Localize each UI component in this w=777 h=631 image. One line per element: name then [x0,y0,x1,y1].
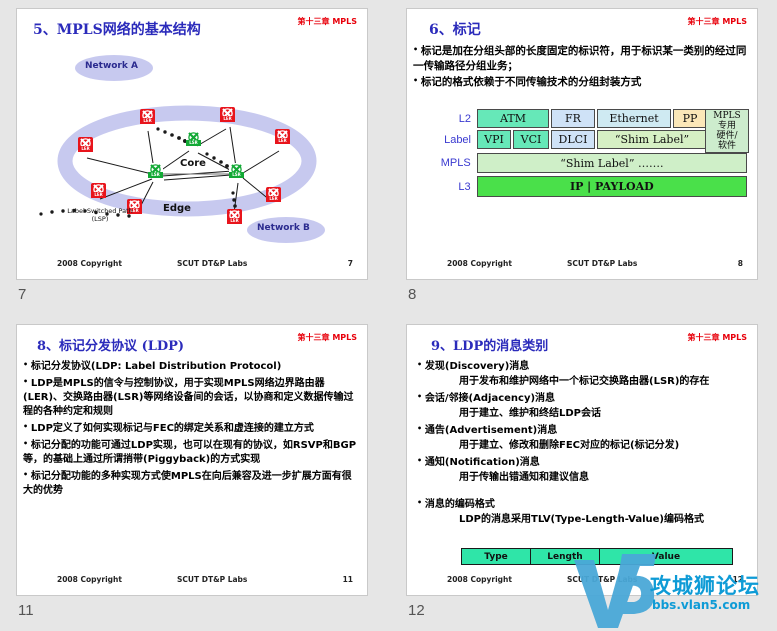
slide-cell-8: 第十三章 MPLS 6、标记 标记是加在分组头部的长度固定的标识符，用于标识某一… [390,0,777,316]
row-label-l2: L2 [419,109,477,128]
thumbnail-page-number: 7 [18,286,378,303]
cell-pp: PP [673,109,707,128]
cell-ip-payload: IP | PAYLOAD [477,176,747,197]
mpls-vert-line: 软件 [706,141,748,151]
message-type-sub: LDP的消息采用TLV(Type-Length-Value)编码格式 [459,513,751,527]
slide-footer: 2008 Copyright SCUT DT&P Labs 7 [17,259,367,273]
thumbnail-page-number: 8 [408,286,765,303]
mpls-network-diagram: Network A Network B Core Edge LER LER LE… [17,41,368,251]
slide-12[interactable]: 第十三章 MPLS 9、LDP的消息类别 发现(Discovery)消息 用于发… [406,324,758,596]
bullet-item: LDP是MPLS的信令与控制协议，用于实现MPLS网络边界路由器(LER)、交换… [23,375,361,419]
spacer [417,486,751,496]
message-type-head: 通知(Notification)消息 [417,454,751,470]
node-lsr[interactable]: LSR [186,131,202,151]
chapter-badge: 第十三章 MPLS [298,332,357,343]
row-label-label: Label [419,130,477,149]
slide-11[interactable]: 第十三章 MPLS 8、标记分发协议 (LDP) 标记分发协议(LDP: Lab… [16,324,368,596]
node-ler[interactable]: LER [220,107,236,127]
bullet-list: 标记是加在分组头部的长度固定的标识符，用于标识某一类别的经过同一传输路径分组业务… [413,43,751,90]
cell-atm: ATM [477,109,549,128]
slide-footer: 2008 Copyright SCUT DT&P Labs 8 [407,259,757,273]
thumbnail-page-number: 12 [408,602,765,619]
footer-labs: SCUT DT&P Labs [567,575,637,584]
footer-copyright: 2008 Copyright [447,259,512,268]
bullet-item: LDP定义了如何实现标记与FEC的绑定关系和虚连接的建立方式 [23,420,361,436]
slide-8[interactable]: 第十三章 MPLS 6、标记 标记是加在分组头部的长度固定的标识符，用于标识某一… [406,8,758,280]
footer-labs: SCUT DT&P Labs [177,575,247,584]
footer-page-number: 8 [738,259,743,268]
tlv-table: Type Length Value [461,548,733,565]
footer-page-number: 11 [343,575,353,584]
edge-label: Edge [163,203,191,214]
message-type-list: 发现(Discovery)消息 用于发布和维护网络中一个标记交换路由器(LSR)… [417,358,751,527]
bullet-item: 标记分配功能的多种实现方式使MPLS在向后兼容及进一步扩展方面有很大的优势 [23,468,361,498]
node-lsr[interactable]: LSR [229,163,245,183]
footer-page-number: 12 [733,575,743,584]
node-ler[interactable]: LER [91,183,107,203]
cell-vpi: VPI [477,130,511,149]
cell-ethernet: Ethernet [597,109,671,128]
tlv-value-cell: Value [600,549,732,564]
mpls-vert-line: 专用 [706,121,748,131]
bullet-item: 标记是加在分组头部的长度固定的标识符，用于标识某一类别的经过同一传输路径分组业务… [413,43,751,73]
footer-copyright: 2008 Copyright [447,575,512,584]
thumbnail-page-number: 11 [18,602,378,619]
tlv-length-cell: Length [531,549,600,564]
message-type-sub: 用于建立、维护和终结LDP会话 [459,407,751,421]
mpls-vert-line: MPLS [706,111,748,121]
cell-dlci: DLCI [551,130,595,149]
cloud-label-network-a: Network A [85,61,138,71]
stack-row-mpls: MPLS “Shim Label” ……. [419,153,749,173]
lsp-dotted-icon [35,207,145,219]
slide-footer: 2008 Copyright SCUT DT&P Labs 11 [17,575,367,589]
bullet-list: 标记分发协议(LDP: Label Distribution Protocol)… [23,358,361,498]
slide-cell-11: 第十三章 MPLS 8、标记分发协议 (LDP) 标记分发协议(LDP: Lab… [0,316,390,631]
message-type-sub: 用于发布和维护网络中一个标记交换路由器(LSR)的存在 [459,375,751,389]
node-label: LER [266,196,281,202]
cloud-label-network-b: Network B [257,223,310,233]
chapter-badge: 第十三章 MPLS [688,332,747,343]
node-ler[interactable]: LER [140,109,156,129]
row-label-mpls: MPLS [419,153,477,173]
footer-page-number: 7 [348,259,353,268]
core-label: Core [180,158,206,169]
chapter-badge: 第十三章 MPLS [688,16,747,27]
stack-row-l2: L2 ATM FR Ethernet PP [419,109,749,128]
node-ler[interactable]: LER [266,187,282,207]
node-label: LER [227,218,242,224]
message-type-head: 会话/邻接(Adjacency)消息 [417,390,751,406]
slide-7[interactable]: 第十三章 MPLS 5、MPLS网络的基本结构 [16,8,368,280]
message-type-sub: 用于传输出错通知和建议信息 [459,471,751,485]
footer-copyright: 2008 Copyright [57,575,122,584]
message-type-head: 发现(Discovery)消息 [417,358,751,374]
cell-mpls-shim: “Shim Label” ……. [477,153,747,173]
node-label: LER [91,192,106,198]
message-type-head: 通告(Advertisement)消息 [417,422,751,438]
bullet-item: 标记的格式依赖于不同传输技术的分组封装方式 [413,74,751,90]
stack-row-l3: L3 IP | PAYLOAD [419,176,749,197]
slide-grid: 第十三章 MPLS 5、MPLS网络的基本结构 [0,0,777,631]
footer-copyright: 2008 Copyright [57,259,122,268]
lsp-legend: Label Switched Path (LSP) [35,207,165,223]
row-label-l3: L3 [419,176,477,197]
node-label: LER [220,116,235,122]
cell-fr: FR [551,109,595,128]
bullet-item: 标记分发协议(LDP: Label Distribution Protocol) [23,358,361,374]
tlv-type-cell: Type [462,549,531,564]
cell-vci: VCI [513,130,549,149]
bullet-item: 标记分配的功能可通过LDP实现，也可以在现有的协议，如RSVP和BGP等，的基础… [23,437,361,467]
node-ler[interactable]: LER [227,209,243,229]
footer-labs: SCUT DT&P Labs [567,259,637,268]
slide-cell-12: 第十三章 MPLS 9、LDP的消息类别 发现(Discovery)消息 用于发… [390,316,777,631]
node-label: LSR [186,140,201,146]
node-label: LER [140,118,155,124]
node-label: LSR [229,172,244,178]
node-label: LER [78,146,93,152]
node-label: LER [275,138,290,144]
chapter-badge: 第十三章 MPLS [298,16,357,27]
slide-cell-7: 第十三章 MPLS 5、MPLS网络的基本结构 [0,0,390,316]
slide-footer: 2008 Copyright SCUT DT&P Labs 12 [407,575,757,589]
mpls-hw-sw-cell: MPLS 专用 硬件/ 软件 [705,109,749,153]
protocol-stack-table: MPLS 专用 硬件/ 软件 L2 ATM FR Ethernet PP Lab… [419,109,749,199]
mpls-vert-line: 硬件/ [706,131,748,141]
footer-labs: SCUT DT&P Labs [177,259,247,268]
node-label: LSR [148,172,163,178]
node-lsr[interactable]: LSR [148,163,164,183]
cell-shim-label: “Shim Label” [597,130,707,149]
message-type-sub: 用于建立、修改和删除FEC对应的标记(标记分发) [459,439,751,453]
node-ler[interactable]: LER [78,137,94,157]
stack-row-label: Label VPI VCI DLCI “Shim Label” [419,130,749,149]
message-type-head: 消息的编码格式 [417,496,751,512]
node-ler[interactable]: LER [275,129,291,149]
